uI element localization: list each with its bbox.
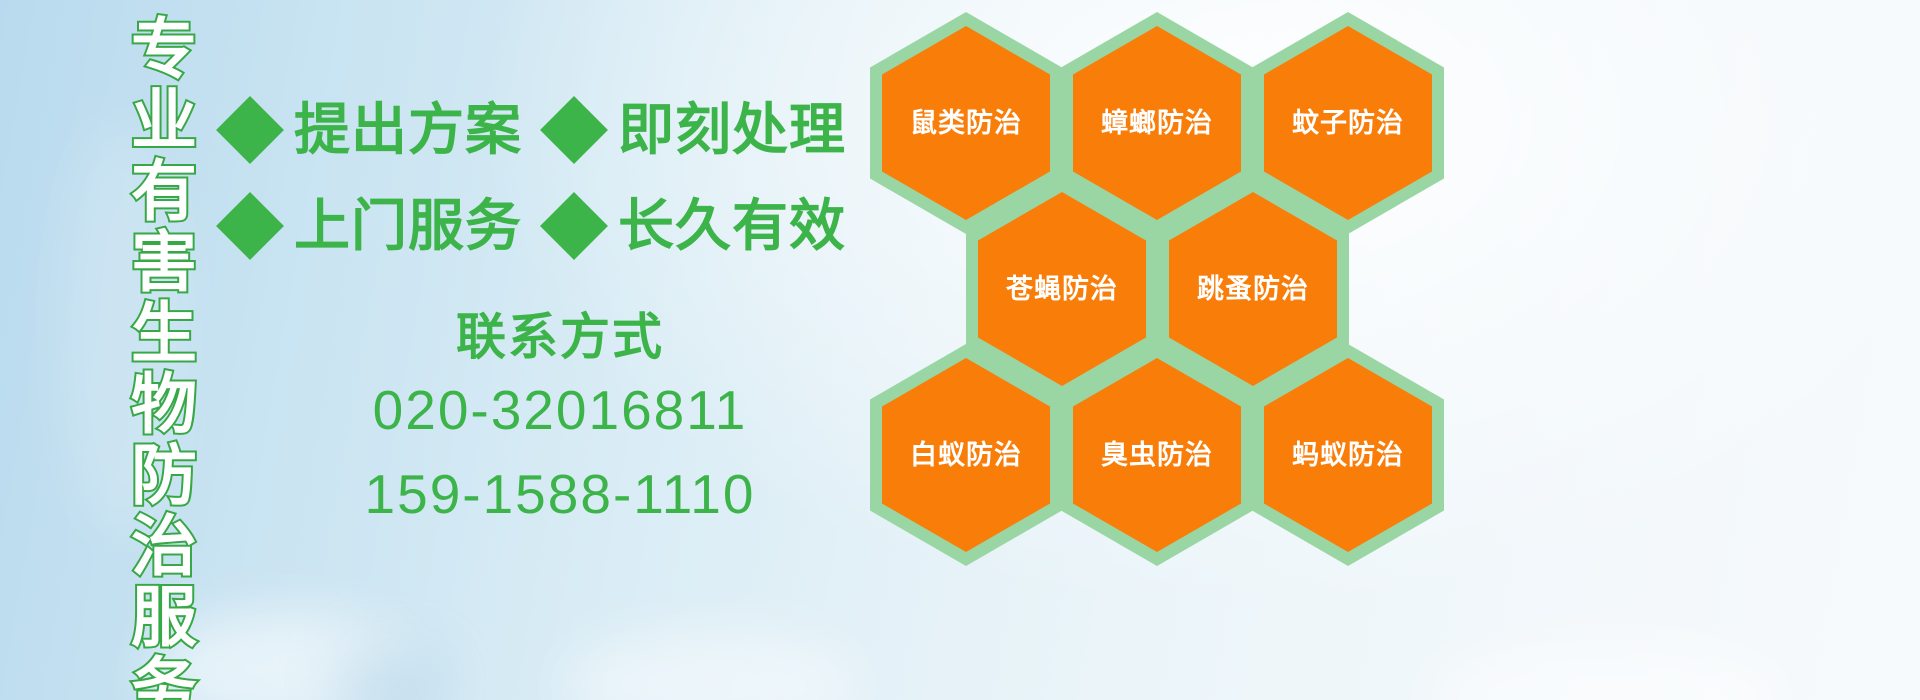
contact-title: 联系方式 (300, 306, 820, 368)
vertical-headline: 专 业 有 害 生 物 防 治 服 务 (112, 14, 216, 674)
vertical-headline-char: 治 (131, 511, 197, 582)
diamond-bullet-icon (540, 192, 608, 260)
feature-row: 上门服务 长久有效 (226, 178, 866, 274)
service-hexagon-inner: 蚂蚁防治 (1264, 358, 1432, 552)
service-hexagon-inner: 苍蝇防治 (978, 192, 1146, 386)
promo-banner: 专 业 有 害 生 物 防 治 服 务 提出方案 即刻处理 上门服务 (0, 0, 1920, 700)
vertical-headline-char: 业 (131, 85, 197, 156)
feature-label: 提出方案 (294, 102, 522, 158)
feature-label: 长久有效 (618, 198, 846, 254)
vertical-headline-char: 防 (131, 440, 197, 511)
diamond-bullet-icon (216, 192, 284, 260)
feature-label: 上门服务 (294, 198, 522, 254)
vertical-headline-char: 服 (131, 582, 197, 653)
service-hexagon-inner: 蚊子防治 (1264, 26, 1432, 220)
vertical-headline-char: 物 (131, 369, 197, 440)
feature-row: 提出方案 即刻处理 (226, 82, 866, 178)
service-label: 跳蚤防治 (1197, 274, 1309, 304)
service-label: 蚂蚁防治 (1292, 440, 1404, 470)
feature-item: 即刻处理 (550, 102, 846, 158)
service-hexagon-inner: 白蚁防治 (882, 358, 1050, 552)
feature-label: 即刻处理 (618, 102, 846, 158)
vertical-headline-char: 害 (131, 227, 197, 298)
feature-item: 长久有效 (550, 198, 846, 254)
background-blob (560, 630, 860, 700)
service-honeycomb: 鼠类防治 蟑螂防治 蚊子防治 苍蝇防治 跳蚤防治 白蚁防治 (862, 2, 1452, 562)
vertical-headline-char: 专 (131, 14, 197, 85)
background-blob (1430, 640, 1790, 700)
service-hexagon-inner: 蟑螂防治 (1073, 26, 1241, 220)
vertical-headline-char: 务 (131, 653, 197, 700)
phone-landline[interactable]: 020-32016811 (300, 368, 820, 452)
service-hexagon-inner: 臭虫防治 (1073, 358, 1241, 552)
diamond-bullet-icon (540, 96, 608, 164)
service-label: 白蚁防治 (910, 440, 1022, 470)
service-label: 蟑螂防治 (1101, 108, 1213, 138)
feature-item: 上门服务 (226, 198, 522, 254)
service-label: 苍蝇防治 (1006, 274, 1118, 304)
phone-mobile[interactable]: 159-1588-1110 (300, 452, 820, 536)
service-label: 臭虫防治 (1101, 440, 1213, 470)
feature-item: 提出方案 (226, 102, 522, 158)
service-hexagon-inner: 鼠类防治 (882, 26, 1050, 220)
vertical-headline-char: 有 (131, 156, 197, 227)
service-label: 蚊子防治 (1292, 108, 1404, 138)
diamond-bullet-icon (216, 96, 284, 164)
service-label: 鼠类防治 (910, 108, 1022, 138)
background-blob (330, 650, 440, 700)
service-hexagon-inner: 跳蚤防治 (1169, 192, 1337, 386)
vertical-headline-char: 生 (131, 298, 197, 369)
feature-list: 提出方案 即刻处理 上门服务 长久有效 (226, 82, 866, 274)
contact-block: 联系方式 020-32016811 159-1588-1110 (300, 306, 820, 536)
